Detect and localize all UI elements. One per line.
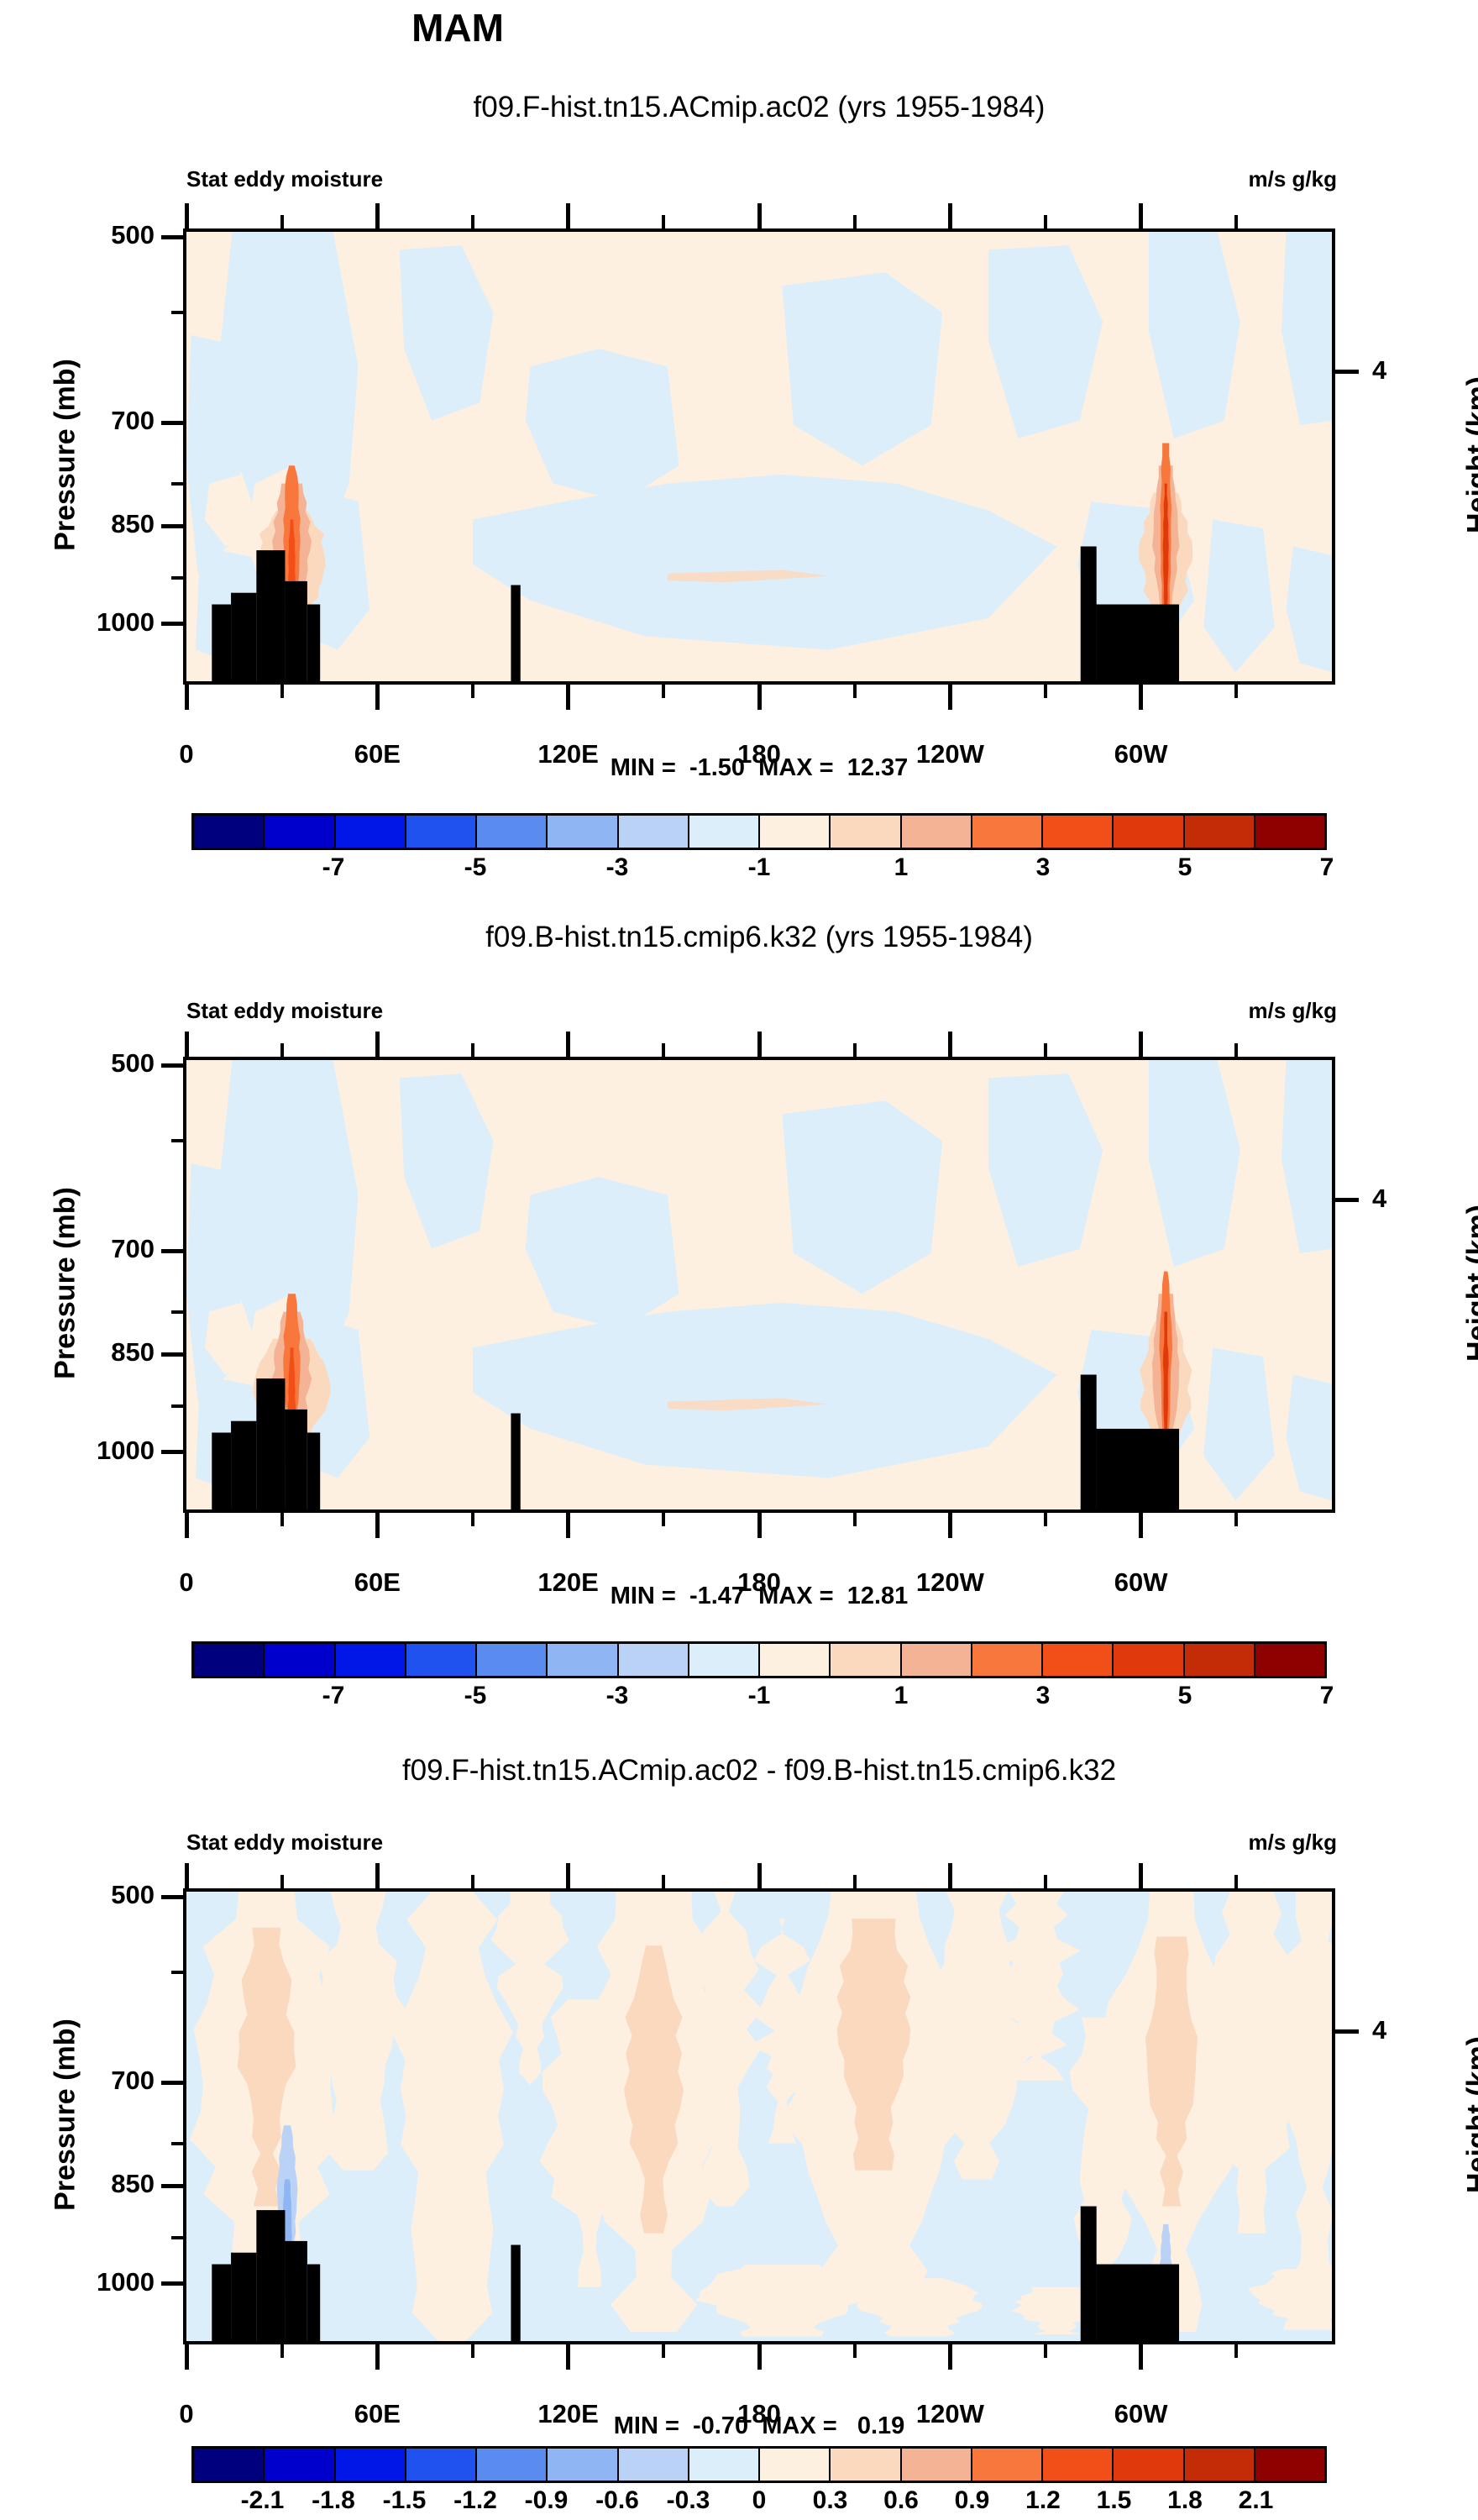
y-right-tickmark [1334,1198,1359,1202]
x-minor-tickmark [1234,1511,1238,1526]
colorbar-tick-label: -1 [748,853,771,882]
x-minor-tickmark [471,683,474,698]
variable-label: Stat eddy moisture [186,1830,383,1856]
x-top-tickmark [280,1875,284,1890]
colorbar-cell [1185,1644,1255,1676]
x-minor-tickmark [280,683,284,698]
x-top-tickmark [662,215,665,230]
y-tickmark [161,2081,185,2085]
x-minor-tickmark [471,1511,474,1526]
y-axis-title: Pressure (mb) [50,1106,82,1459]
panel-title: f09.B-hist.tn15.cmip6.k32 (yrs 1955-1984… [183,921,1335,954]
colorbar-labels: -7-5-3-11357 [191,1682,1327,1715]
x-top-tickmark [757,203,762,230]
colorbar-cell [1185,2449,1255,2481]
colorbar-cell [265,2449,335,2481]
x-minor-tickmark [1044,2343,1047,2358]
colorbar-labels: -2.1-1.8-1.5-1.2-0.9-0.6-0.300.30.60.91.… [191,2486,1327,2520]
y-axis-title: Pressure (mb) [50,1938,82,2291]
colorbar-tick-label: -7 [322,1682,345,1710]
x-tickmark [757,1511,762,1538]
x-top-tickmark [1139,1032,1143,1058]
colorbar-cell [619,816,689,848]
colorbar-cell [1114,816,1184,848]
x-top-tickmark [948,203,952,230]
colorbar-cell [477,1644,548,1676]
colorbar-cell [760,2449,831,2481]
x-top-tickmark [853,215,857,230]
x-top-tickmark [1044,215,1047,230]
y-minor-tickmark [171,482,185,486]
colorbar-cell [1255,816,1324,848]
colorbar-cell [477,2449,548,2481]
colorbar-tick-label: -1.5 [383,2486,427,2515]
x-tickmark [948,683,952,710]
x-minor-tickmark [853,1511,857,1526]
x-top-tickmark [566,1863,570,1890]
y-tick-label: 850 [24,2169,155,2199]
colorbar-strip [191,813,1327,850]
y-tick-label: 1000 [24,2267,155,2297]
x-top-tickmark [471,1875,474,1890]
colorbar-cell [1185,816,1255,848]
x-top-tickmark [471,1043,474,1058]
x-minor-tickmark [1044,683,1047,698]
y-tick-label: 700 [24,2066,155,2096]
x-tickmark [185,1511,189,1538]
y-tickmark [161,524,185,528]
colorbar-tick-label: 3 [1036,1682,1051,1710]
colorbar-cell [406,1644,477,1676]
x-top-tickmark [1139,1863,1143,1890]
colorbar-tick-label: 1 [894,1682,909,1710]
colorbar-tick-label: -2.1 [241,2486,285,2515]
x-top-tickmark [662,1043,665,1058]
x-top-tickmark [948,1032,952,1058]
x-minor-tickmark [1234,2343,1238,2358]
y-right-axis-title: Height (km) [1462,320,1478,589]
x-tickmark [566,2343,570,2370]
x-top-tickmark [375,1863,380,1890]
colorbar-tick-label: -0.6 [595,2486,639,2515]
colorbar-tick-label: -5 [464,853,487,882]
x-top-tickmark [471,215,474,230]
plot-area-2 [183,1057,1335,1513]
y-right-tickmark [1334,370,1359,374]
colorbar-cell [406,816,477,848]
x-top-tickmark [948,1863,952,1890]
colorbar-cell [689,2449,760,2481]
colorbar-tick-label: 5 [1178,1682,1192,1710]
colorbar-cell [619,1644,689,1676]
panel-title: f09.F-hist.tn15.ACmip.ac02 - f09.B-hist.… [183,1754,1335,1788]
x-tickmark [375,1511,380,1538]
y-tickmark [161,2281,185,2286]
colorbar-2: -7-5-3-11357 [191,1641,1327,1715]
colorbar-cell [1043,816,1114,848]
minmax-label: MIN = -1.47 MAX = 12.81 [183,1583,1335,1610]
colorbar-tick-label: -3 [606,1682,629,1710]
y-tickmark [161,421,185,425]
x-top-tickmark [1044,1043,1047,1058]
y-tickmark [161,1063,185,1068]
y-tick-label: 500 [24,1048,155,1079]
colorbar-cell [1114,2449,1184,2481]
x-top-tickmark [566,203,570,230]
x-tickmark [757,2343,762,2370]
colorbar-tick-label: -3 [606,853,629,882]
colorbar-tick-label: -1.2 [453,2486,497,2515]
colorbar-tick-label: -0.9 [525,2486,569,2515]
y-tick-label: 700 [24,1234,155,1264]
y-right-axis-title: Height (km) [1462,1148,1478,1417]
colorbar-strip [191,2446,1327,2483]
colorbar-tick-label: 7 [1320,1682,1334,1710]
colorbar-3: -2.1-1.8-1.5-1.2-0.9-0.6-0.300.30.60.91.… [191,2446,1327,2520]
x-minor-tickmark [662,683,665,698]
x-top-tickmark [853,1043,857,1058]
y-right-tickmark [1334,2029,1359,2034]
colorbar-cell [194,2449,265,2481]
x-top-tickmark [662,1875,665,1890]
colorbar-cell [760,1644,831,1676]
page-title: MAM [0,5,915,50]
minmax-label: MIN = -1.50 MAX = 12.37 [183,754,1335,782]
colorbar-strip [191,1641,1327,1678]
x-top-tickmark [1234,215,1238,230]
y-tickmark [161,1450,185,1454]
y-tick-label: 500 [24,220,155,250]
x-minor-tickmark [853,2343,857,2358]
plot-area-3 [183,1888,1335,2344]
colorbar-tick-label: -7 [322,853,345,882]
colorbar-tick-label: -1 [748,1682,771,1710]
y-minor-tickmark [171,1310,185,1314]
colorbar-cell [972,816,1043,848]
colorbar-cell [1114,1644,1184,1676]
colorbar-cell [1255,1644,1324,1676]
colorbar-cell [265,816,335,848]
colorbar-tick-label: 3 [1036,853,1051,882]
y-minor-tickmark [171,1139,185,1142]
y-minor-tickmark [171,1404,185,1408]
x-tickmark [1139,2343,1143,2370]
contour-field [186,1060,1332,1509]
y-minor-tickmark [171,1971,185,1974]
x-top-tickmark [566,1032,570,1058]
x-top-tickmark [1234,1043,1238,1058]
colorbar-cell [831,2449,901,2481]
x-minor-tickmark [280,2343,284,2358]
colorbar-cell [689,1644,760,1676]
colorbar-cell [477,816,548,848]
x-top-tickmark [853,1875,857,1890]
y-tickmark [161,1249,185,1253]
y-minor-tickmark [171,2142,185,2145]
y-minor-tickmark [171,2236,185,2239]
y-right-tick-label: 4 [1372,2015,1423,2045]
x-minor-tickmark [1234,683,1238,698]
colorbar-cell [1043,2449,1114,2481]
colorbar-tick-label: 7 [1320,853,1334,882]
units-label: m/s g/kg [1249,998,1337,1024]
x-tickmark [185,2343,189,2370]
x-tickmark [185,683,189,710]
y-tick-label: 1000 [24,1436,155,1466]
colorbar-tick-label: -1.8 [312,2486,355,2515]
colorbar-cell [194,816,265,848]
x-top-tickmark [1139,203,1143,230]
y-tick-label: 1000 [24,607,155,638]
units-label: m/s g/kg [1249,166,1337,192]
y-right-tick-label: 4 [1372,1184,1423,1214]
colorbar-tick-label: 1.2 [1025,2486,1061,2515]
x-tickmark [375,683,380,710]
colorbar-cell [548,2449,618,2481]
x-top-tickmark [375,203,380,230]
x-tickmark [948,1511,952,1538]
x-tickmark [375,2343,380,2370]
x-top-tickmark [185,1032,189,1058]
y-tick-label: 700 [24,406,155,436]
y-tickmark [161,622,185,626]
plot-area-1 [183,228,1335,685]
y-tickmark [161,2184,185,2188]
x-top-tickmark [757,1032,762,1058]
colorbar-cell [972,2449,1043,2481]
colorbar-tick-label: 0.6 [883,2486,919,2515]
y-tickmark [161,235,185,239]
y-minor-tickmark [171,311,185,314]
colorbar-cell [689,816,760,848]
colorbar-cell [972,1644,1043,1676]
colorbar-tick-label: -5 [464,1682,487,1710]
x-top-tickmark [375,1032,380,1058]
x-top-tickmark [185,1863,189,1890]
panel-title: f09.F-hist.tn15.ACmip.ac02 (yrs 1955-198… [183,91,1335,124]
x-minor-tickmark [280,1511,284,1526]
colorbar-cell [831,1644,901,1676]
colorbar-tick-label: 0 [752,2486,767,2515]
colorbar-cell [1043,1644,1114,1676]
x-tickmark [566,1511,570,1538]
y-tickmark [161,1895,185,1899]
colorbar-cell [902,1644,972,1676]
colorbar-cell [336,1644,406,1676]
colorbar-tick-label: 1 [894,853,909,882]
x-minor-tickmark [471,2343,474,2358]
colorbar-labels: -7-5-3-11357 [191,853,1327,887]
colorbar-1: -7-5-3-11357 [191,813,1327,887]
colorbar-cell [336,2449,406,2481]
x-top-tickmark [757,1863,762,1890]
colorbar-cell [194,1644,265,1676]
colorbar-tick-label: -0.3 [667,2486,710,2515]
colorbar-cell [1255,2449,1324,2481]
x-tickmark [566,683,570,710]
colorbar-cell [902,2449,972,2481]
x-minor-tickmark [662,1511,665,1526]
colorbar-cell [265,1644,335,1676]
x-tickmark [1139,683,1143,710]
y-tick-label: 850 [24,509,155,539]
colorbar-cell [548,816,618,848]
y-axis-title: Pressure (mb) [50,278,82,631]
colorbar-tick-label: 2.1 [1239,2486,1274,2515]
colorbar-tick-label: 0.9 [955,2486,990,2515]
colorbar-cell [619,2449,689,2481]
colorbar-cell [336,816,406,848]
x-top-tickmark [185,203,189,230]
colorbar-cell [548,1644,618,1676]
y-right-tick-label: 4 [1372,355,1423,386]
x-tickmark [757,683,762,710]
contour-field [186,1892,1332,2341]
y-tick-label: 850 [24,1337,155,1368]
contour-field [186,232,1332,681]
colorbar-tick-label: 1.8 [1167,2486,1203,2515]
colorbar-cell [831,816,901,848]
colorbar-tick-label: 0.3 [813,2486,848,2515]
y-tickmark [161,1352,185,1357]
x-top-tickmark [1044,1875,1047,1890]
colorbar-tick-label: 1.5 [1097,2486,1132,2515]
x-minor-tickmark [1044,1511,1047,1526]
x-top-tickmark [280,215,284,230]
colorbar-cell [406,2449,477,2481]
x-top-tickmark [1234,1875,1238,1890]
x-tickmark [1139,1511,1143,1538]
colorbar-cell [902,816,972,848]
x-minor-tickmark [662,2343,665,2358]
y-right-axis-title: Height (km) [1462,1980,1478,2249]
variable-label: Stat eddy moisture [186,998,383,1024]
minmax-label: MIN = -0.70 MAX = 0.19 [183,2412,1335,2440]
y-minor-tickmark [171,576,185,580]
colorbar-cell [760,816,831,848]
x-tickmark [948,2343,952,2370]
x-top-tickmark [280,1043,284,1058]
x-minor-tickmark [853,683,857,698]
variable-label: Stat eddy moisture [186,166,383,192]
y-tick-label: 500 [24,1880,155,1910]
units-label: m/s g/kg [1249,1830,1337,1856]
colorbar-tick-label: 5 [1178,853,1192,882]
